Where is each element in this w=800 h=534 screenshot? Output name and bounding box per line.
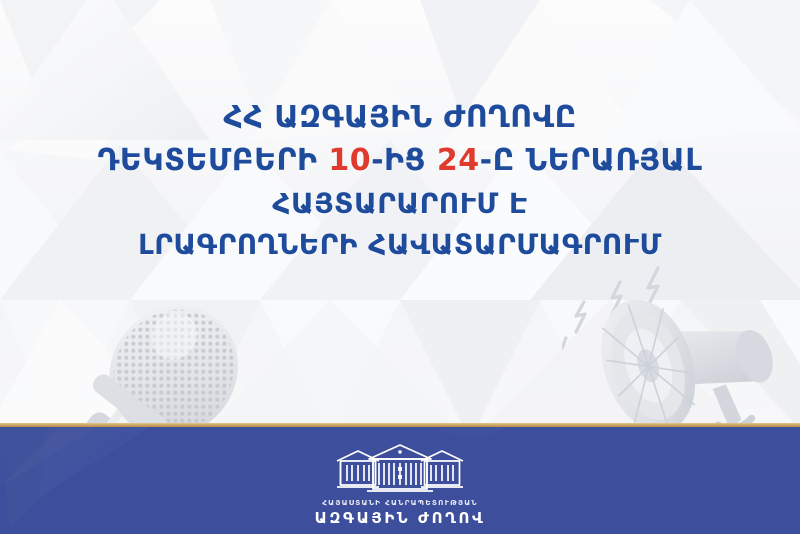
headline-line-1: ՀՀ ԱԶԳԱՅԻՆ ԺՈՂՈՎԸ xyxy=(40,100,760,135)
parliament-logo: ՀԱՅԱՍՏԱՆԻ ՀԱՆՐԱՊԵՏՈՒԹՅԱՆ ԱԶԳԱՅԻՆ ԺՈՂՈՎ xyxy=(0,443,800,527)
logo-subtitle: ՀԱՅԱՍՏԱՆԻ ՀԱՆՐԱՊԵՏՈՒԹՅԱՆ xyxy=(322,498,478,507)
headline-line-2-suffix: -Ը ՆԵՐԱՌՅԱԼ xyxy=(480,143,703,178)
headline-line-4: ԼՐԱԳՐՈՂՆԵՐԻ ՀԱՎԱՏԱՐՄԱԳՐՈՒՄ xyxy=(40,228,760,261)
headline-line-2-prefix: ԴԵԿՏԵՄԲԵՐԻ xyxy=(97,143,328,178)
date-end-number: 24 xyxy=(437,143,480,178)
logo-title: ԱԶԳԱՅԻՆ ԺՈՂՈՎ xyxy=(315,509,486,527)
headline-block: ՀՀ ԱԶԳԱՅԻՆ ԺՈՂՈՎԸ ԴԵԿՏԵՄԲԵՐԻ 10-ԻՑ 24-Ը … xyxy=(0,100,800,261)
headline-line-3: ՀԱՅՏԱՐԱՐՈՒՄ Է xyxy=(40,187,760,220)
date-start-number: 10 xyxy=(328,143,371,178)
headline-line-2: ԴԵԿՏԵՄԲԵՐԻ 10-ԻՑ 24-Ը ՆԵՐԱՌՅԱԼ xyxy=(40,143,760,178)
parliament-building-icon xyxy=(325,443,475,495)
headline-line-2-middle: -ԻՑ xyxy=(371,143,437,178)
gold-divider-rule xyxy=(0,423,800,427)
announcement-poster: ՀՀ ԱԶԳԱՅԻՆ ԺՈՂՈՎԸ ԴԵԿՏԵՄԲԵՐԻ 10-ԻՑ 24-Ը … xyxy=(0,0,800,534)
